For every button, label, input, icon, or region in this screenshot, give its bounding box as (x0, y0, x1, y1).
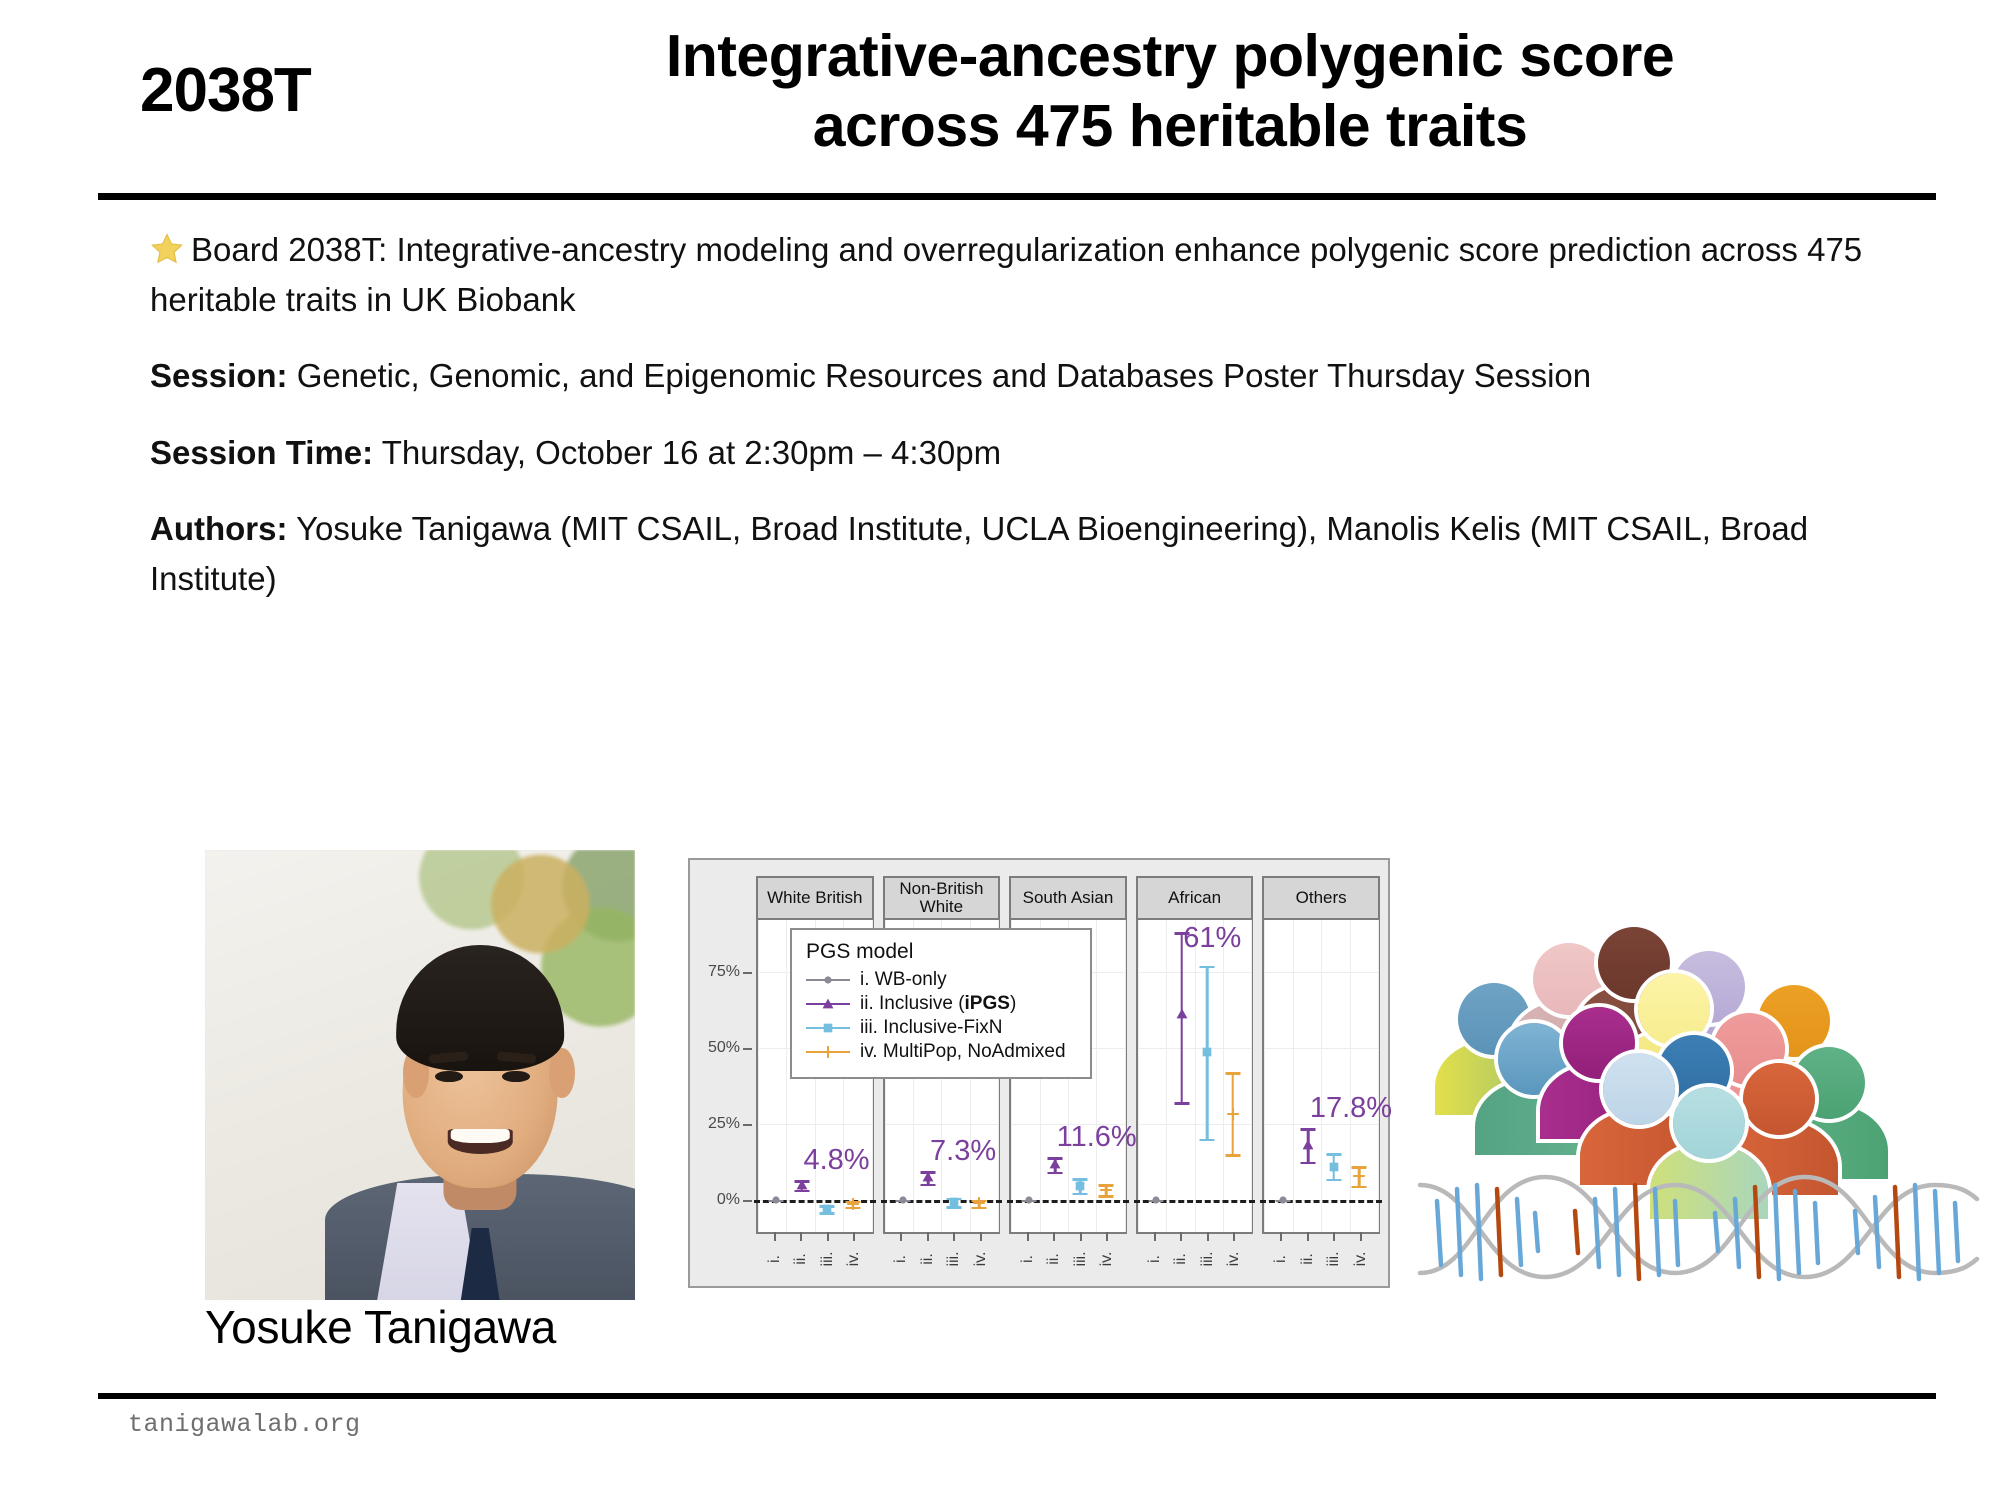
gridline-vertical (1293, 920, 1294, 1232)
data-point-marker (1352, 1169, 1366, 1183)
legend-title: PGS model (806, 940, 1078, 964)
chart-panel: African61%i.ii.iii.iv. (1136, 876, 1254, 1278)
legend-marker-icon (806, 997, 850, 1011)
x-axis-tick-mark (900, 1232, 902, 1241)
x-axis-tick-mark (953, 1232, 955, 1241)
data-point-marker (1175, 1008, 1188, 1021)
header-divider (98, 193, 1936, 200)
panel-strip-label: African (1136, 876, 1254, 920)
data-point-marker (1201, 1046, 1214, 1059)
error-bar (1146, 920, 1166, 1232)
data-point-marker (1226, 1107, 1240, 1121)
y-axis-tick: 50% (708, 1039, 740, 1057)
x-axis-tick-label: iv. (1352, 1252, 1370, 1267)
panel-annotation: 11.6% (1057, 1121, 1137, 1154)
x-axis-tick-mark (1080, 1232, 1082, 1241)
legend-item-label: iii. Inclusive-FixN (860, 1017, 1003, 1039)
data-point-marker (846, 1197, 860, 1211)
dna-helix-icon (1415, 1155, 1980, 1295)
footer-site: tanigawalab.org (128, 1410, 361, 1439)
session-time-value: Thursday, October 16 at 2:30pm – 4:30pm (382, 434, 1001, 471)
legend-item-label: i. WB-only (860, 969, 947, 991)
session-value: Genetic, Genomic, and Epigenomic Resourc… (297, 357, 1591, 394)
x-axis-tick-mark (1360, 1232, 1362, 1241)
x-axis-tick-mark (827, 1232, 829, 1241)
legend-item: i. WB-only (806, 969, 1078, 991)
x-axis-tick-label: iv. (1098, 1252, 1116, 1267)
photo-teeth (451, 1129, 510, 1143)
gridline-vertical (786, 920, 787, 1232)
gridline-vertical (1378, 920, 1379, 1232)
diverse-people-icon (1420, 855, 1980, 1170)
x-axis-tick-label: ii. (1172, 1253, 1190, 1265)
x-axis-tick-mark (1280, 1232, 1282, 1241)
x-axis-tick-label: i. (892, 1255, 910, 1263)
x-axis-tick-mark (800, 1232, 802, 1241)
headshot-photo (205, 850, 635, 1300)
gridline-vertical (1166, 920, 1167, 1232)
x-axis-tick-label: i. (1019, 1255, 1037, 1263)
photo-eye-left (435, 1071, 463, 1083)
x-axis-tick-mark (980, 1232, 982, 1241)
session-label: Session: (150, 357, 288, 394)
legend-item-label: iv. MultiPop, NoAdmixed (860, 1041, 1066, 1063)
x-axis-tick-label: iv. (972, 1252, 990, 1267)
page-title-line1: Integrative-ancestry polygenic score (430, 22, 1910, 92)
legend-item: ii. Inclusive (iPGS) (806, 993, 1078, 1015)
photo-mouth (448, 1129, 513, 1154)
error-bar (1324, 920, 1344, 1232)
error-bar-cap-upper (1326, 1153, 1341, 1156)
x-axis-tick-label: ii. (792, 1253, 810, 1265)
data-point-marker (922, 1171, 935, 1184)
x-axis-tick-mark (1307, 1232, 1309, 1241)
body-text: Board 2038T: Integrative-ancestry modeli… (150, 225, 1910, 630)
data-point-marker (795, 1178, 808, 1191)
error-bar (766, 920, 786, 1232)
x-axis-tick-label: iii. (1199, 1251, 1217, 1266)
error-bar (1273, 920, 1293, 1232)
panel-strip-label: Non-British White (883, 876, 1001, 920)
photo-caption: Yosuke Tanigawa (205, 1300, 765, 1354)
x-axis-tick-label: ii. (919, 1253, 937, 1265)
error-bar (1223, 920, 1243, 1232)
x-axis-tick-label: i. (1272, 1255, 1290, 1263)
x-axis-tick-label: ii. (1045, 1253, 1063, 1265)
x-axis-ticks: i.ii.iii.iv. (883, 1234, 1001, 1278)
legend-item-label: ii. Inclusive (iPGS) (860, 993, 1016, 1015)
authors-label: Authors: (150, 510, 287, 547)
page-title: Integrative-ancestry polygenic score acr… (430, 22, 1910, 161)
legend-marker-icon (806, 1021, 850, 1035)
x-axis-tick-label: iii. (945, 1251, 963, 1266)
poster-slide: 2038T Integrative-ancestry polygenic sco… (0, 0, 2000, 1500)
x-axis-tick-mark (1106, 1232, 1108, 1241)
x-axis-tick-label: ii. (1299, 1253, 1317, 1265)
session-time-label: Session Time: (150, 434, 373, 471)
legend-item: iv. MultiPop, NoAdmixed (806, 1041, 1078, 1063)
x-axis-tick-mark (1333, 1232, 1335, 1241)
headline-text: Board 2038T: Integrative-ancestry modeli… (150, 231, 1862, 318)
x-axis-tick-label: i. (1146, 1255, 1164, 1263)
chart-legend: PGS model i. WB-onlyii. Inclusive (iPGS)… (790, 928, 1092, 1079)
page-title-line2: across 475 heritable traits (430, 92, 1910, 162)
headline-paragraph: Board 2038T: Integrative-ancestry modeli… (150, 225, 1910, 324)
x-axis-tick-label: i. (766, 1255, 784, 1263)
diversity-graphic (1420, 855, 1980, 1295)
error-bar-cap-lower (1352, 1186, 1367, 1189)
error-bar-cap-lower (1301, 1162, 1316, 1165)
legend-marker-icon (806, 1045, 850, 1059)
data-point-marker (770, 1194, 782, 1206)
session-paragraph: Session: Genetic, Genomic, and Epigenomi… (150, 351, 1910, 401)
y-axis-tick: 25% (708, 1115, 740, 1133)
error-bar (1298, 920, 1318, 1232)
data-point-marker (1327, 1160, 1340, 1173)
data-point-marker (1074, 1179, 1087, 1192)
header: 2038T Integrative-ancestry polygenic sco… (0, 0, 2000, 195)
error-bar-cap-lower (1073, 1193, 1088, 1196)
x-axis-tick-label: iii. (1072, 1251, 1090, 1266)
authors-value: Yosuke Tanigawa (MIT CSAIL, Broad Instit… (150, 510, 1808, 597)
error-bar-cap-upper (1225, 1072, 1240, 1075)
session-time-paragraph: Session Time: Thursday, October 16 at 2:… (150, 428, 1910, 478)
panel-strip-label: Others (1262, 876, 1380, 920)
panel-plot: 61% (1136, 920, 1254, 1234)
data-point-marker (1023, 1194, 1035, 1206)
legend-marker-icon (806, 973, 850, 987)
data-point-marker (972, 1196, 986, 1210)
star-icon (150, 230, 184, 264)
error-bar (1197, 920, 1217, 1232)
x-axis-tick-mark (1207, 1232, 1209, 1241)
gridline-vertical (758, 920, 759, 1232)
x-axis-ticks: i.ii.iii.iv. (756, 1234, 874, 1278)
x-axis-tick-label: iv. (1225, 1252, 1243, 1267)
panel-strip-label: South Asian (1009, 876, 1127, 920)
photo-eye-right (502, 1071, 530, 1083)
x-axis-tick-mark (1027, 1232, 1029, 1241)
person-head (1673, 1087, 1745, 1159)
gridline-vertical (1251, 920, 1252, 1232)
error-bar-cap-upper (1200, 966, 1215, 969)
gridline-vertical (1125, 920, 1126, 1232)
x-axis-ticks: i.ii.iii.iv. (1262, 1234, 1380, 1278)
error-bar (1172, 920, 1192, 1232)
panel-plot: 17.8% (1262, 920, 1380, 1234)
error-bar-cap-lower (1326, 1179, 1341, 1182)
legend-rows: i. WB-onlyii. Inclusive (iPGS)iii. Inclu… (806, 969, 1078, 1063)
gridline-vertical (1264, 920, 1265, 1232)
error-bar-cap-lower (1174, 1102, 1189, 1105)
panel-annotation: 4.8% (803, 1144, 869, 1177)
footer-divider (98, 1393, 1936, 1399)
error-bar-cap-lower (1047, 1172, 1062, 1175)
data-point-marker (897, 1194, 909, 1206)
gridline-vertical (1321, 920, 1322, 1232)
gridline-vertical (1195, 920, 1196, 1232)
data-point-marker (821, 1202, 834, 1215)
panel-strip-label: White British (756, 876, 874, 920)
x-axis-tick-mark (1180, 1232, 1182, 1241)
authors-paragraph: Authors: Yosuke Tanigawa (MIT CSAIL, Bro… (150, 504, 1910, 603)
data-point-marker (947, 1195, 960, 1208)
error-bar (1096, 920, 1116, 1232)
data-point-marker (1150, 1194, 1162, 1206)
error-bar (1349, 920, 1369, 1232)
x-axis-tick-label: iv. (845, 1252, 863, 1267)
data-point-marker (1302, 1139, 1315, 1152)
y-axis: 0%25%50%75% (690, 860, 756, 1232)
gridline-vertical (1138, 920, 1139, 1232)
data-point-marker (1099, 1183, 1113, 1197)
x-axis-ticks: i.ii.iii.iv. (1009, 1234, 1127, 1278)
panel-annotation: 7.3% (930, 1135, 996, 1168)
error-bar-cap-lower (1225, 1154, 1240, 1157)
x-axis-tick-label: iii. (819, 1251, 837, 1266)
y-axis-tick: 75% (708, 963, 740, 981)
x-axis-tick-mark (774, 1232, 776, 1241)
panel-annotation: 61% (1183, 922, 1241, 955)
x-axis-tick-mark (1154, 1232, 1156, 1241)
x-axis-tick-mark (1053, 1232, 1055, 1241)
panel-annotation: 17.8% (1310, 1092, 1392, 1125)
x-axis-tick-label: iii. (1325, 1251, 1343, 1266)
error-bar-cap-lower (1200, 1139, 1215, 1142)
headshot-image (205, 850, 635, 1300)
legend-item: iii. Inclusive-FixN (806, 1017, 1078, 1039)
board-id: 2038T (140, 55, 460, 126)
error-bar-cap-lower (921, 1184, 936, 1187)
x-axis-tick-mark (1233, 1232, 1235, 1241)
pgs-forest-chart: 0%25%50%75% White British4.8%i.ii.iii.iv… (688, 858, 1390, 1288)
data-point-marker (1048, 1158, 1061, 1171)
y-axis-tick: 0% (717, 1191, 740, 1209)
data-point-marker (1277, 1194, 1289, 1206)
error-bar-cap-upper (1301, 1128, 1316, 1131)
x-axis-tick-mark (853, 1232, 855, 1241)
x-axis-ticks: i.ii.iii.iv. (1136, 1234, 1254, 1278)
x-axis-tick-mark (927, 1232, 929, 1241)
chart-panel: Others17.8%i.ii.iii.iv. (1262, 876, 1380, 1278)
